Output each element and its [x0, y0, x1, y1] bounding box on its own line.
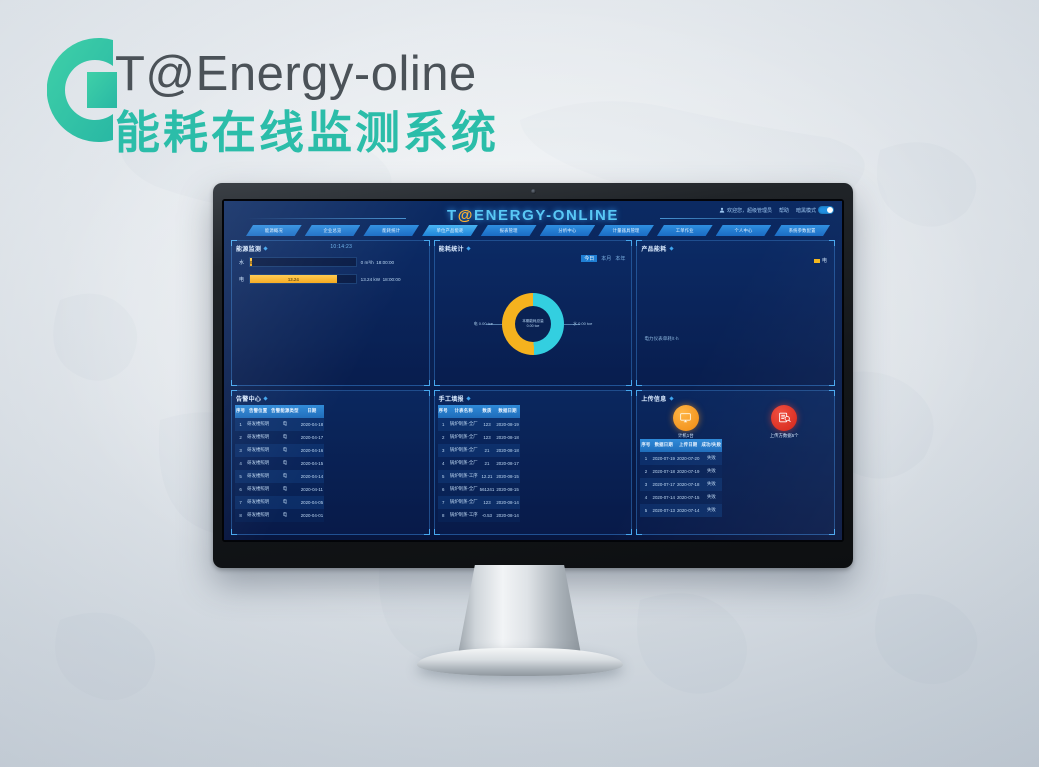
nav-item-1[interactable]: 企业总览 — [305, 225, 361, 236]
nav-item-7[interactable]: 工单作业 — [657, 225, 713, 236]
table-cell: 5 — [235, 470, 246, 483]
energy-monitor-time: 10:14:23 — [330, 244, 352, 250]
panel-energy-stats: 能耗统计 今日本月本年 电 0.00 tce 水 0.00 tce 本期能耗总 — [434, 240, 633, 386]
table-cell: 锅炉制蒸-全厂 — [449, 418, 479, 431]
table-cell: 2020-07-19 — [652, 452, 676, 465]
table-cell: 电 — [270, 470, 300, 483]
panel-marker-icon — [669, 396, 673, 400]
table-row[interactable]: 7锅炉制蒸-全厂1232020-08-14 — [438, 496, 520, 509]
table-cell: 2020-04-18 — [300, 418, 324, 431]
table-cell: 2020-08-14 — [495, 496, 519, 509]
table-cell: 8 — [235, 509, 246, 522]
table-row[interactable]: 1锅炉制蒸-全厂1232020-08-19 — [438, 418, 520, 431]
table-cell: 锅炉制蒸-工序 — [449, 470, 479, 483]
table-cell: 1 — [640, 452, 651, 465]
monitor-stand-base — [417, 648, 623, 676]
table-cell: 2020-08-15 — [495, 470, 519, 483]
panel-upload-info: 上传信息 计机1台 — [636, 390, 835, 536]
table-cell: 2020-08-17 — [495, 457, 519, 470]
column-header: 序号 — [438, 405, 449, 418]
legend-label: 电 — [822, 257, 827, 264]
table-cell: 2020-04-05 — [300, 496, 324, 509]
column-header: 告警位置 — [246, 405, 270, 418]
dark-mode-toggle[interactable] — [818, 206, 834, 214]
brand-header: T@Energy-oline 能耗在线监测系统 — [47, 26, 577, 161]
table-cell: 3 — [438, 444, 449, 457]
main-nav: 能源概况企业总览能耗统计单位产品能耗报表管理分析中心计量器具管理工单作业个人中心… — [246, 225, 830, 236]
table-cell: 2020-07-20 — [676, 452, 700, 465]
nav-item-3[interactable]: 单位产品能耗 — [422, 225, 478, 236]
nav-item-4[interactable]: 报表管理 — [481, 225, 537, 236]
app-title-post: ENERGY-ONLINE — [474, 207, 619, 224]
table-cell: 研发楼照明 — [246, 444, 270, 457]
donut-ring: 本期能耗总量 0.00 tce — [502, 293, 564, 355]
nav-item-label: 系统参数配置 — [789, 228, 816, 234]
table-cell: 21 — [479, 457, 496, 470]
energy-bar-row: 水00 m³/h 18:00:00 — [238, 257, 423, 267]
dark-mode-control[interactable]: 暗黑模式 — [796, 206, 834, 214]
table-cell: 锅炉制蒸-全厂 — [449, 444, 479, 457]
column-header: 序号 — [640, 439, 651, 452]
table-cell: 电 — [270, 444, 300, 457]
energy-monitor-header: 能源监测 — [236, 244, 267, 253]
table-cell: 123 — [479, 431, 496, 444]
energy-stats-tabs: 今日本月本年 — [581, 255, 625, 262]
energy-bar-readout: 13.24 kW 18:00:00 — [361, 277, 423, 282]
table-cell: 2020-07-19 — [676, 465, 700, 478]
table-cell: 研发楼照明 — [246, 457, 270, 470]
table-row[interactable]: 7研发楼照明电2020-04-05 — [235, 496, 324, 509]
panel-alarm-center: 告警中心 序号告警位置告警能源类型日期1研发楼照明电2020-04-182研发楼… — [231, 390, 430, 536]
panel-manual-entry: 手工填报 序号计表名称数质数据日期1锅炉制蒸-全厂1232020-08-192锅… — [434, 390, 633, 536]
energy-stats-title: 能耗统计 — [439, 244, 464, 253]
column-header: 计表名称 — [449, 405, 479, 418]
table-row[interactable]: 4研发楼照明电2020-04-15 — [235, 457, 324, 470]
column-header: 数质 — [479, 405, 496, 418]
table-row[interactable]: 5锅炉制蒸-工序12.212020-08-15 — [438, 470, 520, 483]
nav-item-2[interactable]: 能耗统计 — [363, 225, 419, 236]
nav-item-label: 个人中心 — [734, 228, 752, 234]
energy-stats-tab-0[interactable]: 今日 — [581, 255, 597, 262]
energy-stats-tab-1[interactable]: 本月 — [601, 255, 611, 262]
nav-item-label: 报表管理 — [500, 228, 518, 234]
energy-bar-readout: 0 m³/h 18:00:00 — [361, 260, 423, 265]
upload-stat-left[interactable]: 计机1台 — [673, 405, 699, 439]
table-row[interactable]: 12020-07-192020-07-20失败 — [640, 452, 722, 465]
monitor-screen: T@ENERGY-ONLINE 欢迎您，超级管理员 帮助 暗黑模式 能源概况企业… — [224, 201, 842, 540]
manual-entry-title: 手工填报 — [439, 394, 464, 403]
alarm-center-header: 告警中心 — [236, 394, 267, 403]
table-cell: 失败 — [700, 491, 722, 504]
nav-item-label: 企业总览 — [324, 228, 342, 234]
table-cell: 5 — [640, 504, 651, 517]
table-cell: 2020-04-01 — [300, 509, 324, 522]
table-cell: 123 — [479, 496, 496, 509]
table-cell: 5 — [438, 470, 449, 483]
table-cell: 123 — [479, 418, 496, 431]
table-cell: 2020-07-14 — [676, 504, 700, 517]
table-cell: 2020-04-11 — [300, 483, 324, 496]
upload-stat-right-caption: 上传方数据5个 — [770, 433, 799, 439]
nav-item-label: 能源概况 — [265, 228, 283, 234]
table-cell: 2020-08-14 — [495, 509, 519, 522]
product-energy-title: 产品能耗 — [641, 244, 666, 253]
table-cell: 研发楼照明 — [246, 431, 270, 444]
table-cell: 4 — [640, 491, 651, 504]
table-cell: 研发楼照明 — [246, 418, 270, 431]
dashboard-grid: 能源监测 10:14:23 水00 m³/h 18:00:00电13.2413.… — [231, 240, 835, 535]
panel-marker-icon — [669, 246, 673, 250]
table-row[interactable]: 1研发楼照明电2020-04-18 — [235, 418, 324, 431]
energy-bar-row: 电13.2413.24 kW 18:00:00 — [238, 274, 423, 284]
table-cell: 2020-08-19 — [495, 418, 519, 431]
help-label: 帮助 — [779, 207, 789, 214]
energy-bar-label: 水 — [238, 259, 245, 266]
panel-marker-icon — [466, 246, 470, 250]
table-cell: 锅炉制蒸-工序 — [449, 509, 479, 522]
legend-swatch-icon — [814, 259, 820, 263]
alarm-center-title: 告警中心 — [236, 394, 261, 403]
energy-bars: 水00 m³/h 18:00:00电13.2413.24 kW 18:00:00 — [238, 257, 423, 291]
table-row[interactable]: 22020-07-182020-07-19失败 — [640, 465, 722, 478]
column-header: 数据日期 — [652, 439, 676, 452]
table-row[interactable]: 6研发楼照明电2020-04-11 — [235, 483, 324, 496]
nav-item-8[interactable]: 个人中心 — [716, 225, 772, 236]
table-cell: 电 — [270, 431, 300, 444]
table-row[interactable]: 5研发楼照明电2020-04-14 — [235, 470, 324, 483]
table-cell: 研发楼照明 — [246, 483, 270, 496]
table-cell: 12.21 — [479, 470, 496, 483]
table-cell: 561241 — [479, 483, 496, 496]
table-row[interactable]: 2研发楼照明电2020-04-17 — [235, 431, 324, 444]
nav-item-6[interactable]: 计量器具管理 — [598, 225, 654, 236]
table-cell: 电 — [270, 496, 300, 509]
user-menu[interactable]: 欢迎您，超级管理员 — [719, 207, 772, 214]
table-cell: 2 — [640, 465, 651, 478]
table-cell: 2020-04-17 — [300, 431, 324, 444]
table-cell: 2 — [438, 431, 449, 444]
panel-marker-icon — [264, 396, 268, 400]
app-title-at: @ — [458, 207, 474, 224]
table-cell: 锅炉制蒸-全厂 — [449, 483, 479, 496]
table-cell: 2020-04-14 — [300, 470, 324, 483]
table-cell: 电 — [270, 509, 300, 522]
table-cell: 失败 — [700, 465, 722, 478]
table-cell: 4 — [235, 457, 246, 470]
nav-item-0[interactable]: 能源概况 — [246, 225, 302, 236]
panel-marker-icon — [466, 396, 470, 400]
table-row[interactable]: 8锅炉制蒸-工序-0.532020-08-14 — [438, 509, 520, 522]
table-cell: 2020-08-18 — [495, 444, 519, 457]
upload-info-header: 上传信息 — [641, 394, 672, 403]
table-row[interactable]: 32020-07-172020-07-18失败 — [640, 478, 722, 491]
energy-donut-chart: 电 0.00 tce 水 0.00 tce 本期能耗总量 0.00 tce — [435, 267, 632, 381]
product-energy-legend: 电 — [814, 257, 827, 264]
table-row[interactable]: 6锅炉制蒸-全厂5612412020-08-15 — [438, 483, 520, 496]
panel-marker-icon — [264, 246, 268, 250]
table-cell: 2020-07-18 — [652, 465, 676, 478]
manual-entry-table: 序号计表名称数质数据日期1锅炉制蒸-全厂1232020-08-192锅炉制蒸-全… — [438, 405, 520, 522]
table-cell: 7 — [235, 496, 246, 509]
table-cell: 2 — [235, 431, 246, 444]
monitor-stand-neck — [458, 565, 582, 657]
product-energy-axis-note: 电力仪表单耗/t·h — [644, 336, 678, 342]
table-cell: 1 — [235, 418, 246, 431]
table-cell: 电 — [270, 418, 300, 431]
top-right-bar: 欢迎您，超级管理员 帮助 暗黑模式 — [719, 206, 834, 214]
dashboard: T@ENERGY-ONLINE 欢迎您，超级管理员 帮助 暗黑模式 能源概况企业… — [224, 201, 842, 540]
nav-item-label: 计量器具管理 — [613, 228, 640, 234]
energy-bar-track: 13.24 — [249, 274, 357, 284]
donut-center-text: 本期能耗总量 0.00 tce — [502, 319, 564, 329]
table-row[interactable]: 42020-07-142020-07-15失败 — [640, 491, 722, 504]
table-cell: 研发楼照明 — [246, 509, 270, 522]
document-search-icon — [771, 405, 797, 431]
brand-title-cn: 能耗在线监测系统 — [115, 110, 499, 155]
table-cell: 4 — [438, 457, 449, 470]
table-cell: 电 — [270, 483, 300, 496]
column-header: 日期 — [300, 405, 324, 418]
table-cell: 7 — [438, 496, 449, 509]
brand-title-en: T@Energy-oline — [115, 50, 477, 99]
manual-entry-header: 手工填报 — [439, 394, 470, 403]
table-cell: 3 — [640, 478, 651, 491]
table-cell: 21 — [479, 444, 496, 457]
table-cell: 2020-07-17 — [652, 478, 676, 491]
column-header: 序号 — [235, 405, 246, 418]
upload-stats: 计机1台 上传方数据5个 — [637, 405, 834, 439]
table-cell: 2020-07-13 — [652, 504, 676, 517]
table-cell: 失败 — [700, 478, 722, 491]
table-row[interactable]: 4锅炉制蒸-全厂212020-08-17 — [438, 457, 520, 470]
table-cell: 2020-07-18 — [676, 478, 700, 491]
table-cell: 电 — [270, 457, 300, 470]
table-cell: 2020-07-14 — [652, 491, 676, 504]
table-row[interactable]: 2锅炉制蒸-全厂1232020-08-18 — [438, 431, 520, 444]
app-title-pre: T — [447, 207, 458, 224]
column-header: 成功/失败 — [700, 439, 722, 452]
monitor-icon — [673, 405, 699, 431]
nav-item-label: 单位产品能耗 — [436, 228, 463, 234]
table-cell: 6 — [235, 483, 246, 496]
table-cell: 2020-07-15 — [676, 491, 700, 504]
donut-center-line2: 0.00 tce — [502, 324, 564, 329]
table-cell: 锅炉制蒸-全厂 — [449, 496, 479, 509]
energy-bar-track: 0 — [249, 257, 357, 267]
column-header: 告警能源类型 — [270, 405, 300, 418]
donut-label-left: 电 0.00 tce — [474, 321, 493, 327]
donut-label-right: 水 0.00 tce — [573, 321, 592, 327]
table-cell: 2020-04-15 — [300, 457, 324, 470]
energy-bar-label: 电 — [238, 276, 245, 283]
column-header: 上传日期 — [676, 439, 700, 452]
nav-item-5[interactable]: 分析中心 — [540, 225, 596, 236]
upload-stat-right[interactable]: 上传方数据5个 — [770, 405, 799, 439]
panel-product-energy: 产品能耗 电 电力仪表单耗/t·h — [636, 240, 835, 386]
nav-item-9[interactable]: 系统参数配置 — [774, 225, 830, 236]
table-cell: 研发楼照明 — [246, 496, 270, 509]
energy-bar-value-text: 13.24 — [288, 277, 299, 282]
c-arc-logo-icon — [47, 28, 121, 152]
table-cell: 失败 — [700, 504, 722, 517]
alarm-center-table: 序号告警位置告警能源类型日期1研发楼照明电2020-04-182研发楼照明电20… — [235, 405, 324, 522]
table-row[interactable]: 3锅炉制蒸-全厂212020-08-18 — [438, 444, 520, 457]
dark-mode-label: 暗黑模式 — [796, 207, 816, 214]
table-cell: 研发楼照明 — [246, 470, 270, 483]
energy-stats-header: 能耗统计 — [439, 244, 470, 253]
user-icon — [719, 207, 725, 213]
nav-item-label: 工单作业 — [676, 228, 694, 234]
table-cell: 失败 — [700, 452, 722, 465]
table-cell: 3 — [235, 444, 246, 457]
table-cell: -0.53 — [479, 509, 496, 522]
table-cell: 2020-08-18 — [495, 431, 519, 444]
help-link[interactable]: 帮助 — [779, 207, 789, 214]
page-root: T@Energy-oline 能耗在线监测系统 T@ENERGY-ONLINE … — [0, 0, 1039, 767]
table-cell: 2020-08-15 — [495, 483, 519, 496]
monitor: T@ENERGY-ONLINE 欢迎您，超级管理员 帮助 暗黑模式 能源概况企业… — [213, 183, 853, 568]
energy-bar-value-text: 0 — [250, 260, 252, 265]
energy-stats-tab-2[interactable]: 本年 — [615, 255, 625, 262]
upload-info-table: 序号数据日期上传日期成功/失败12020-07-192020-07-20失败22… — [640, 439, 722, 517]
panel-energy-monitor: 能源监测 10:14:23 水00 m³/h 18:00:00电13.2413.… — [231, 240, 430, 386]
table-cell: 6 — [438, 483, 449, 496]
upload-info-title: 上传信息 — [641, 394, 666, 403]
table-cell: 8 — [438, 509, 449, 522]
table-cell: 锅炉制蒸-全厂 — [449, 431, 479, 444]
nav-item-label: 分析中心 — [558, 228, 576, 234]
table-row[interactable]: 8研发楼照明电2020-04-01 — [235, 509, 324, 522]
column-header: 数据日期 — [495, 405, 519, 418]
user-label: 欢迎您，超级管理员 — [727, 207, 772, 214]
table-row[interactable]: 3研发楼照明电2020-04-16 — [235, 444, 324, 457]
product-energy-header: 产品能耗 — [641, 244, 672, 253]
table-cell: 1 — [438, 418, 449, 431]
table-row[interactable]: 52020-07-132020-07-14失败 — [640, 504, 722, 517]
table-cell: 锅炉制蒸-全厂 — [449, 457, 479, 470]
nav-item-label: 能耗统计 — [382, 228, 400, 234]
webcam-icon — [531, 189, 536, 194]
table-cell: 2020-04-16 — [300, 444, 324, 457]
energy-monitor-title: 能源监测 — [236, 244, 261, 253]
